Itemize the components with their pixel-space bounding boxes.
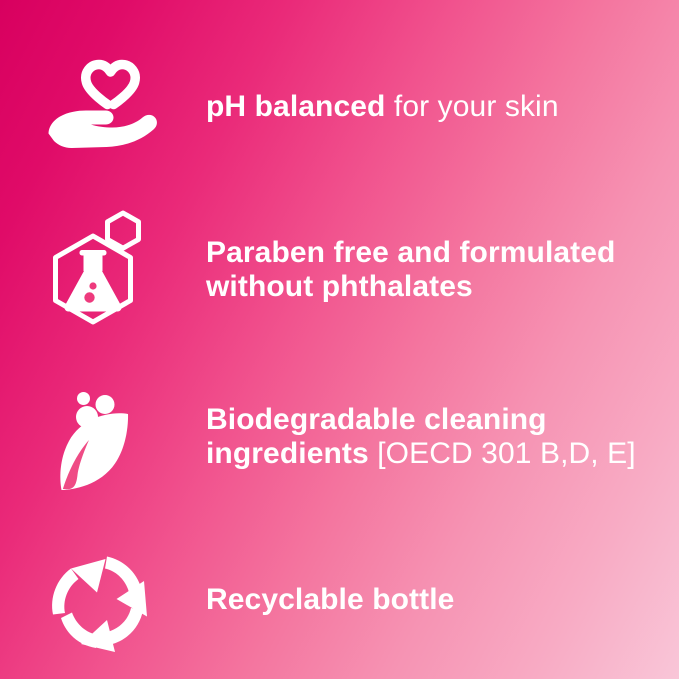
feature-text: Recyclable bottle [162,583,679,617]
feature-label-strong: Recyclable bottle [206,583,454,616]
feature-text: Biodegradable cleaning ingredients [OECD… [162,403,679,471]
feature-label-light: for your skin [385,90,558,123]
product-feature-panel: pH balanced for your skin [0,0,679,679]
hexagon-flask-icon [40,215,164,325]
feature-text: pH balanced for your skin [162,90,679,124]
feature-row: Recyclable bottle [0,520,679,679]
hand-holding-heart-icon [42,50,166,160]
feature-label-light: [OECD 301 B,D, E] [369,437,636,470]
feature-row: Paraben free and formulated without phth… [0,187,679,354]
feature-text: Paraben free and formulated without phth… [162,236,679,304]
feature-row: pH balanced for your skin [0,28,679,187]
feature-label-strong: pH balanced [206,90,385,123]
feature-label-strong: Paraben free and formulated without phth… [206,236,615,303]
recycle-icon [41,549,165,659]
leaf-bubbles-icon [40,384,164,494]
feature-row: Biodegradable cleaning ingredients [OECD… [0,354,679,521]
feature-list: pH balanced for your skin [0,0,679,679]
